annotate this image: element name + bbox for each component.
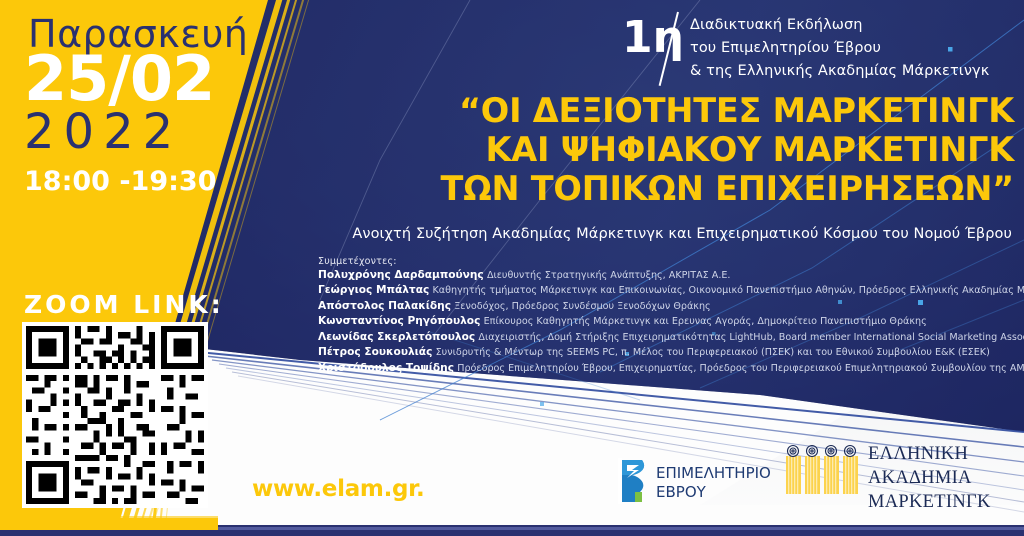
- participant-role: Πρόεδρος Επιμελητηρίου Έβρου, Επιχειρημα…: [457, 363, 1024, 374]
- header-lines: Διαδικτυακή Εκδήλωση του Επιμελητηρίου Έ…: [690, 14, 1024, 83]
- title-line-1: “ΟΙ ΔΕΞΙΟΤΗΤΕΣ ΜΑΡΚΕΤΙΝΓΚ: [300, 92, 1014, 131]
- title-line-2: ΚΑΙ ΨΗΦΙΑΚΟΥ ΜΑΡΚΕΤΙΝΓΚ: [300, 131, 1014, 170]
- list-item: Γεώργιος Μπάλτας Καθηγητής τμήματος Μάρκ…: [318, 283, 1018, 298]
- participant-name: Πέτρος Σουκουλιάς: [318, 346, 432, 358]
- event-year: 2022: [24, 108, 264, 156]
- list-item: Πέτρος Σουκουλιάς Συνιδρυτής & Μέντωρ τη…: [318, 345, 1018, 360]
- participant-role: Καθηγητής τμήματος Μάρκετινγκ και Επικοι…: [433, 285, 1024, 296]
- date-column: Παρασκευή 25/02 2022 18:00 -19:30 ZOOM L…: [0, 0, 270, 536]
- chamber-logo-mark: [618, 458, 650, 504]
- participant-role: Διευθυντής Στρατηγικής Ανάπτυξης, ΑΚΡΙΤΑ…: [487, 270, 731, 281]
- participant-role: Συνιδρυτής & Μέντωρ της SEEMS PC, π. Μέλ…: [436, 347, 990, 358]
- chamber-logo-line-2: ΕΒΡΟΥ: [656, 483, 706, 501]
- header-line-3: & της Ελληνικής Ακαδημίας Μάρκετινγκ: [690, 60, 1024, 83]
- event-poster: Παρασκευή 25/02 2022 18:00 -19:30 ZOOM L…: [0, 0, 1024, 536]
- qr-code-image: [26, 326, 204, 504]
- participants-heading: Συμμετέχοντες:: [318, 256, 1018, 267]
- participant-role: Διαχειριστής, Δομή Στήριξης Επιχειρηματι…: [478, 332, 1024, 343]
- header-line-1: Διαδικτυακή Εκδήλωση: [690, 14, 1024, 37]
- qr-code[interactable]: [22, 322, 208, 508]
- participant-name: Πολυχρόνης Δαρδαμπούνης: [318, 269, 484, 281]
- website-url[interactable]: www.elam.gr.: [252, 476, 424, 502]
- academy-logo-line-1: ΕΛΛΗΝΙΚΗ: [868, 442, 991, 466]
- participant-role: Επίκουρος Καθηγητής Μάρκετινγκ και Ερευν…: [484, 316, 927, 327]
- list-item: Χριστόδουλος Τοψίδης Πρόεδρος Επιμελητηρ…: [318, 361, 1018, 376]
- participant-role: Ξενοδόχος, Πρόεδρος Συνδέσμου Ξενοδόχων …: [454, 301, 710, 312]
- participant-name: Γεώργιος Μπάλτας: [318, 284, 429, 296]
- footer-yellow-bar: [0, 518, 218, 530]
- event-date: 25/02: [24, 48, 264, 110]
- event-header: 1η Διαδικτυακή Εκδήλωση του Επιμελητηρίο…: [622, 12, 1022, 88]
- academy-logo-line-2: ΑΚΑΔΗΜΙΑ: [868, 466, 991, 490]
- hellenic-academy-of-marketing-logo: ΕΛΛΗΝΙΚΗ ΑΚΑΔΗΜΙΑ ΜΑΡΚΕΤΙΝΓΚ: [786, 442, 1021, 504]
- footer-yellow-thin-bar: [0, 516, 218, 518]
- title-line-3: ΤΩΝ ΤΟΠΙΚΩΝ ΕΠΙΧΕΙΡΗΣΕΩΝ”: [300, 170, 1014, 209]
- participant-name: Χριστόδουλος Τοψίδης: [318, 362, 454, 374]
- participants-list: Συμμετέχοντες: Πολυχρόνης Δαρδαμπούνης Δ…: [318, 256, 1018, 376]
- header-line-2: του Επιμελητηρίου Έβρου: [690, 37, 1024, 60]
- zoom-link-label: ZOOM LINK:: [24, 290, 254, 319]
- list-item: Πολυχρόνης Δαρδαμπούνης Διευθυντής Στρατ…: [318, 268, 1018, 283]
- list-item: Κωνσταντίνος Ρηγόπουλος Επίκουρος Καθηγη…: [318, 314, 1018, 329]
- page-title: “ΟΙ ΔΕΞΙΟΤΗΤΕΣ ΜΑΡΚΕΤΙΝΓΚ ΚΑΙ ΨΗΦΙΑΚΟΥ Μ…: [300, 92, 1014, 209]
- list-item: Λεωνίδας Σκερλετόπουλος Διαχειριστής, Δο…: [318, 330, 1018, 345]
- participant-name: Κωνσταντίνος Ρηγόπουλος: [318, 315, 480, 327]
- academy-logo-text: ΕΛΛΗΝΙΚΗ ΑΚΑΔΗΜΙΑ ΜΑΡΚΕΤΙΝΓΚ: [868, 442, 991, 514]
- academy-logo-line-3: ΜΑΡΚΕΤΙΝΓΚ: [868, 490, 991, 514]
- event-time: 18:00 -19:30: [24, 168, 264, 195]
- list-item: Απόστολος Παλακίδης Ξενοδόχος, Πρόεδρος …: [318, 299, 1018, 314]
- participant-name: Λεωνίδας Σκερλετόπουλος: [318, 331, 475, 343]
- page-subtitle: Ανοιχτή Συζήτηση Ακαδημίας Μάρκετινγκ κα…: [300, 226, 1012, 242]
- chamber-logo-line-1: ΕΠΙΜΕΛΗΤΗΡΙΟ: [656, 464, 771, 482]
- academy-logo-columns: [786, 444, 858, 496]
- chamber-of-evros-logo: ΕΠΙΜΕΛΗΤΗΡΙΟ ΕΒΡΟΥ: [618, 458, 778, 506]
- participant-name: Απόστολος Παλακίδης: [318, 300, 451, 312]
